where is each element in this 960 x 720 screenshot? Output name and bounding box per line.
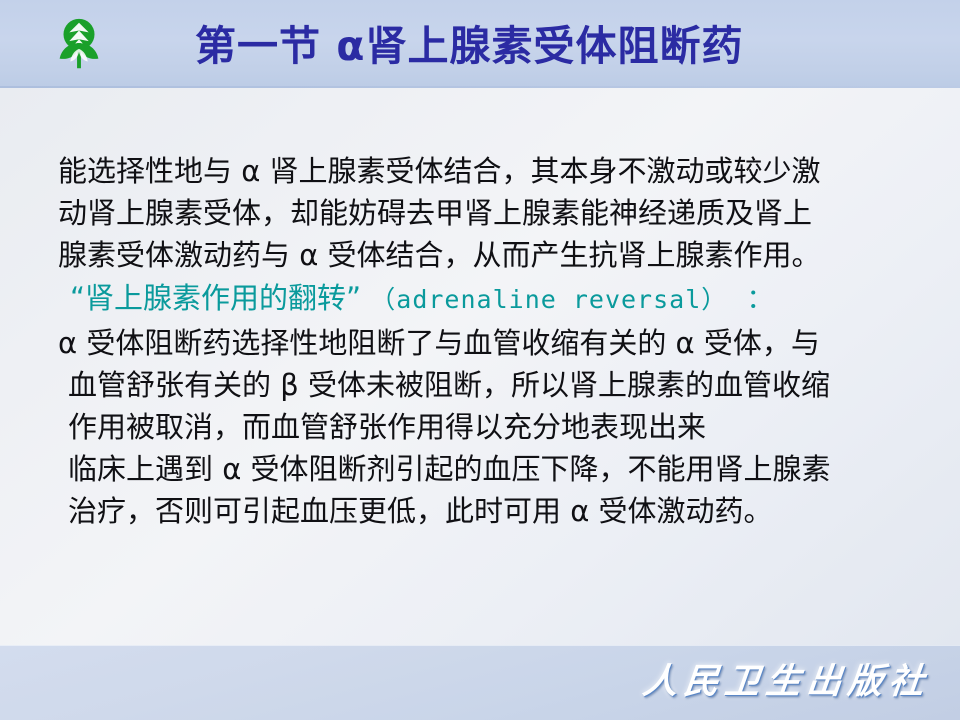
paragraph3-line2: 治疗，否则可引起血压更低，此时可用 α 受体激动药。 (58, 490, 918, 532)
paragraph2-line1: α 受体阻断药选择性地阻断了与血管收缩有关的 α 受体，与 (58, 322, 918, 364)
highlight-english-term: （adrenaline reversal） (370, 285, 727, 314)
paragraph1-line2: 动肾上腺素受体，却能妨碍去甲肾上腺素能神经递质及肾上 (58, 192, 918, 234)
header-band: 第一节 α肾上腺素受体阻断药 (0, 0, 960, 88)
page-title: 第一节 α肾上腺素受体阻断药 (195, 18, 895, 74)
paragraph3-line1: 临床上遇到 α 受体阻断剂引起的血压下降，不能用肾上腺素 (58, 448, 918, 490)
slide-root: 第一节 α肾上腺素受体阻断药 能选择性地与 α 肾上腺素受体结合，其本身不激动或… (0, 0, 960, 720)
highlight-line: “肾上腺素作用的翻转” （adrenaline reversal） ： (58, 276, 918, 322)
plant-sprout-logo-icon (48, 14, 110, 76)
body-text-block: 能选择性地与 α 肾上腺素受体结合，其本身不激动或较少激 动肾上腺素受体，却能妨… (58, 150, 918, 532)
paragraph2-line3: 作用被取消，而血管舒张作用得以充分地表现出来 (58, 406, 918, 448)
highlight-chinese-term: “肾上腺素作用的翻转” (70, 281, 361, 315)
highlight-colon: ： (736, 284, 773, 315)
publisher-logo-text: 人民卫生出版社 (640, 653, 932, 704)
footer-band: 人民卫生出版社 (0, 645, 960, 720)
slide-content-area: 能选择性地与 α 肾上腺素受体结合，其本身不激动或较少激 动肾上腺素受体，却能妨… (0, 88, 960, 645)
paragraph1-line3: 腺素受体激动药与 α 受体结合，从而产生抗肾上腺素作用。 (58, 234, 918, 276)
paragraph2-line2: 血管舒张有关的 β 受体未被阻断，所以肾上腺素的血管收缩 (58, 364, 918, 406)
paragraph1-line1: 能选择性地与 α 肾上腺素受体结合，其本身不激动或较少激 (58, 150, 918, 192)
